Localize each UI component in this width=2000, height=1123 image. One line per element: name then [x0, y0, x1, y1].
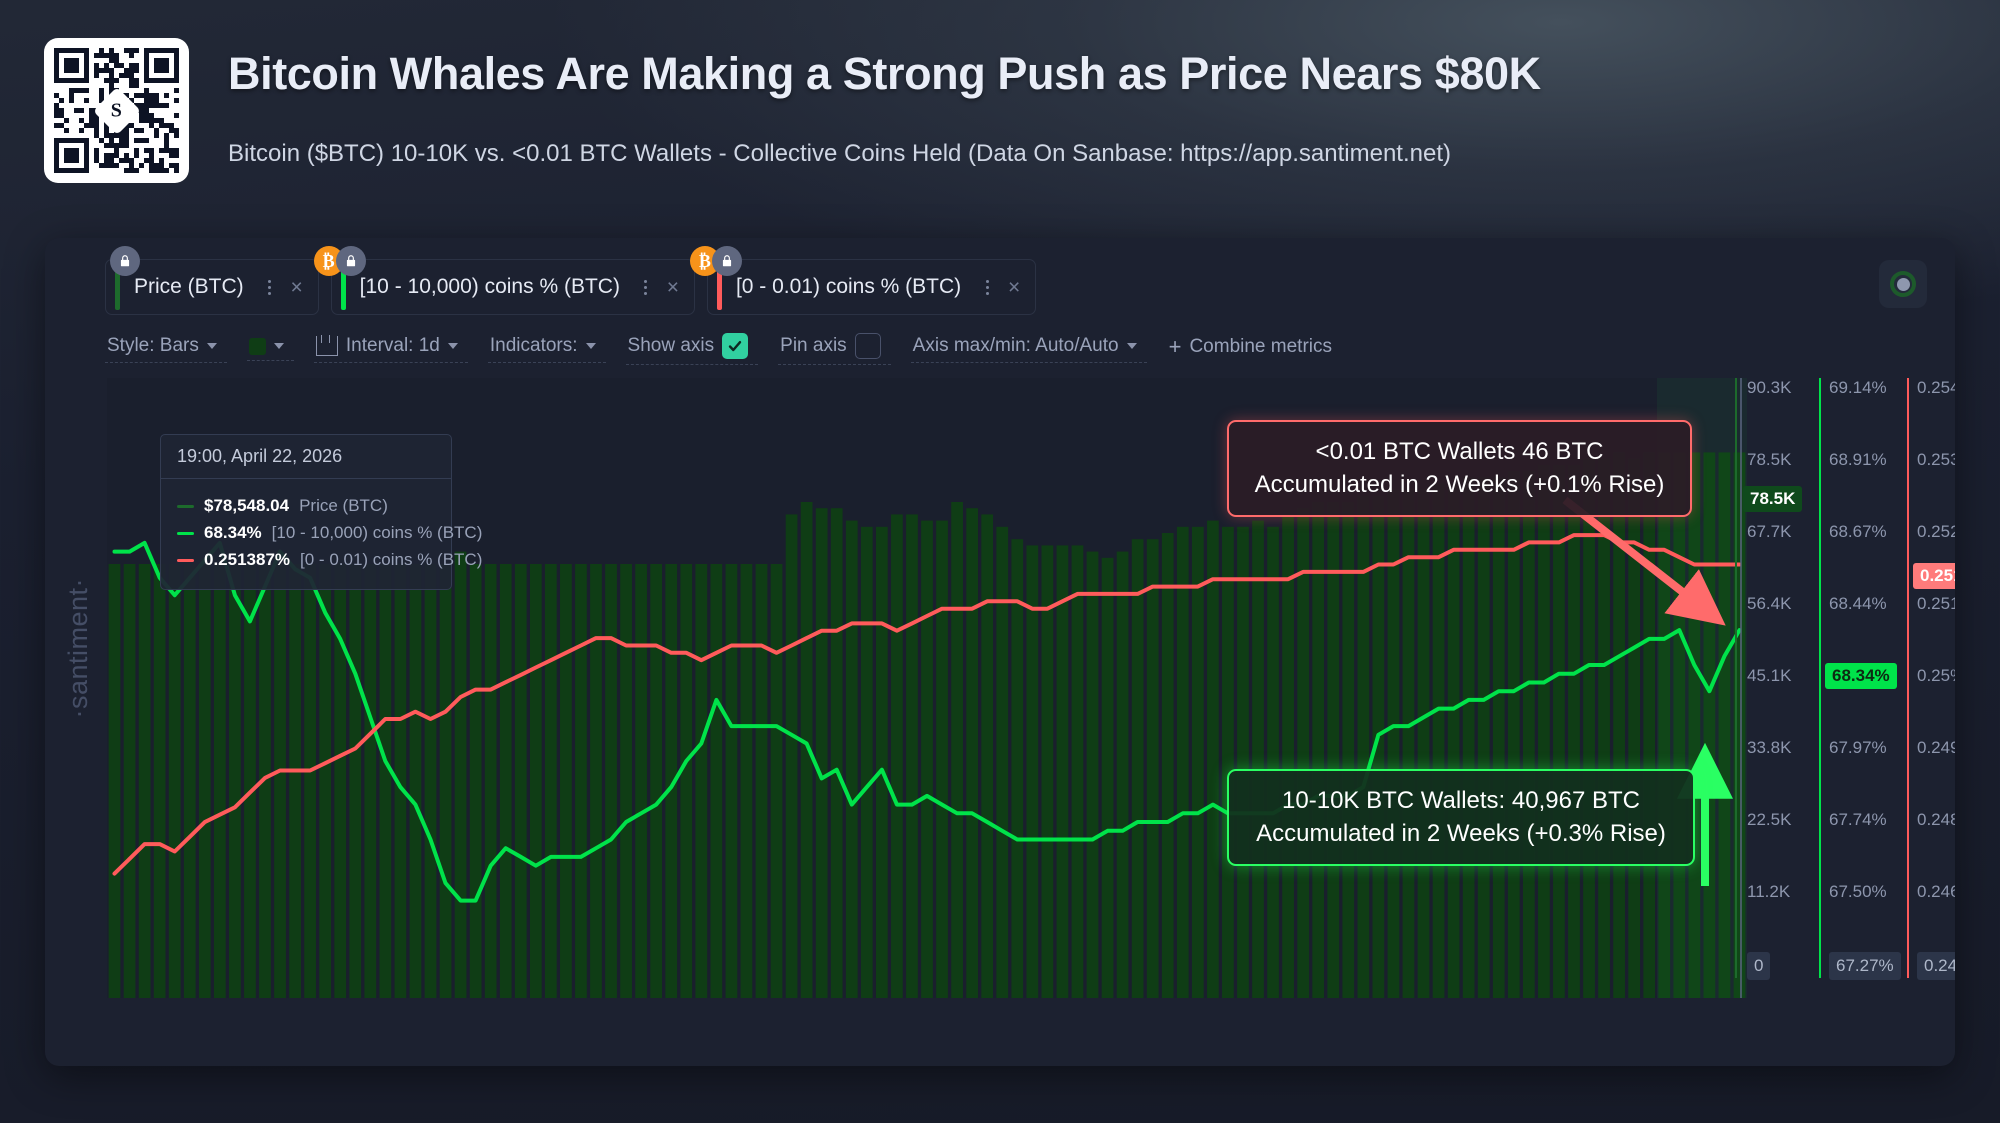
qr-code-icon: S: [44, 38, 189, 183]
y-axis-tick: 67.27%: [1829, 952, 1901, 980]
y-axis-tick: 68.91%: [1829, 450, 1887, 470]
y-axis-tick: 67.74%: [1829, 810, 1887, 830]
y-axis-3: 0.254%0.253%0.252%0.251%0.25%0.249%0.248…: [1917, 378, 1955, 978]
page-title: Bitcoin Whales Are Making a Strong Push …: [228, 48, 1541, 100]
chevron-down-icon: [448, 343, 458, 349]
metric-chip-1[interactable]: Price (BTC)×: [105, 259, 319, 315]
pin-axis-toggle[interactable]: Pin axis: [778, 331, 891, 365]
combine-metrics-label: Combine metrics: [1189, 336, 1332, 358]
qr-center-glyph: S: [111, 99, 122, 122]
y-axis-tick: 78.5K: [1747, 450, 1791, 470]
style-label: Style: Bars: [107, 335, 199, 357]
chart-y-axes: 90.3K78.5K67.7K56.4K45.1K33.8K22.5K11.2K…: [1747, 378, 1955, 1018]
page-subtitle: Bitcoin ($BTC) 10-10K vs. <0.01 BTC Wall…: [228, 140, 1451, 168]
metric-chip-label: [0 - 0.01) coins % (BTC): [736, 275, 961, 299]
tooltip-value: 68.34%: [204, 523, 262, 543]
y-axis-tick: 56.4K: [1747, 594, 1791, 614]
combine-metrics-button[interactable]: + Combine metrics: [1167, 334, 1342, 363]
y-axis-tick: 69.14%: [1829, 378, 1887, 398]
close-icon[interactable]: ×: [656, 277, 690, 298]
y-axis-current-value: 0.251%: [1913, 563, 1955, 589]
checkbox-unchecked-icon[interactable]: [855, 333, 881, 359]
chevron-down-icon: [1127, 343, 1137, 349]
y-axis-tick: 11.2K: [1747, 882, 1790, 902]
interval-label: Interval: 1d: [346, 335, 440, 357]
show-axis-label: Show axis: [628, 335, 715, 357]
y-axis-tick: 67.50%: [1829, 882, 1887, 902]
whale-wallets-callout: 10-10K BTC Wallets: 40,967 BTC Accumulat…: [1227, 769, 1695, 866]
y-axis-tick: 0.252%: [1917, 522, 1955, 542]
y-axis-tick: 0.245%: [1917, 952, 1955, 980]
live-ring-icon: [1890, 271, 1916, 297]
live-status-indicator[interactable]: [1879, 260, 1927, 308]
tooltip-rows: $78,548.04Price (BTC)68.34%[10 - 10,000)…: [161, 479, 451, 589]
y-axis-2: 69.14%68.91%68.67%68.44%68.20%67.97%67.7…: [1829, 378, 1919, 978]
y-axis-tick: 0.248%: [1917, 810, 1955, 830]
small-wallets-callout: <0.01 BTC Wallets 46 BTC Accumulated in …: [1227, 420, 1692, 517]
checkbox-checked-icon[interactable]: [722, 333, 748, 359]
whale-wallets-callout-line2: Accumulated in 2 Weeks (+0.3% Rise): [1251, 818, 1671, 851]
chevron-down-icon: [586, 343, 596, 349]
y-axis-tick: 45.1K: [1747, 666, 1791, 686]
small-wallets-callout-line2: Accumulated in 2 Weeks (+0.1% Rise): [1251, 469, 1668, 502]
y-axis-current-value: 78.5K: [1743, 486, 1802, 512]
tooltip-row-2: 68.34%[10 - 10,000) coins % (BTC): [177, 523, 435, 543]
chevron-down-icon: [207, 343, 217, 349]
tooltip-row-3: 0.251387%[0 - 0.01) coins % (BTC): [177, 550, 435, 570]
tooltip-row-1: $78,548.04Price (BTC): [177, 496, 435, 516]
y-axis-1: 90.3K78.5K67.7K56.4K45.1K33.8K22.5K11.2K…: [1747, 378, 1837, 978]
color-swatch-icon: [249, 338, 266, 355]
metric-chip-label: Price (BTC): [134, 275, 244, 299]
color-dropdown[interactable]: [247, 336, 294, 361]
series-color-dash: [177, 559, 194, 562]
chevron-down-icon: [274, 343, 284, 349]
kebab-menu-icon[interactable]: [636, 280, 656, 295]
page-header: S Bitcoin Whales Are Making a Strong Pus…: [0, 0, 2000, 222]
y-axis-tick: 33.8K: [1747, 738, 1791, 758]
screenshot-root: S Bitcoin Whales Are Making a Strong Pus…: [0, 0, 2000, 1123]
axis-minmax-label: Axis max/min: Auto/Auto: [913, 335, 1119, 357]
chart-card: Price (BTC)×₿[10 - 10,000) coins % (BTC)…: [45, 238, 1955, 1066]
tooltip-value: 0.251387%: [204, 550, 290, 570]
y-axis-tick: 0.249%: [1917, 738, 1955, 758]
calendar-icon: [316, 336, 338, 356]
close-icon[interactable]: ×: [997, 277, 1031, 298]
indicators-dropdown[interactable]: Indicators:: [488, 333, 606, 363]
metric-chip-3[interactable]: ₿[0 - 0.01) coins % (BTC)×: [707, 259, 1036, 315]
lock-icon: [712, 246, 742, 276]
y-axis-tick: 67.97%: [1829, 738, 1887, 758]
plus-icon: +: [1169, 336, 1182, 358]
chart-settings-row: Style: Bars Interval: 1d Indicators: Sho…: [105, 330, 1362, 366]
series-color-dash: [177, 532, 194, 535]
axis-minmax-dropdown[interactable]: Axis max/min: Auto/Auto: [911, 333, 1147, 363]
metric-chip-label: [10 - 10,000) coins % (BTC): [360, 275, 620, 299]
show-axis-toggle[interactable]: Show axis: [626, 331, 759, 365]
lock-icon: [110, 246, 140, 276]
y-axis-line: [1735, 378, 1737, 978]
y-axis-tick: 68.44%: [1829, 594, 1887, 614]
y-axis-tick: 0.254%: [1917, 378, 1955, 398]
y-axis-tick: 22.5K: [1747, 810, 1791, 830]
chart-tooltip: 19:00, April 22, 2026 $78,548.04Price (B…: [160, 434, 452, 590]
y-axis-tick: 67.7K: [1747, 522, 1791, 542]
whale-wallets-callout-line1: 10-10K BTC Wallets: 40,967 BTC: [1251, 785, 1671, 818]
tooltip-series-name: Price (BTC): [299, 496, 388, 516]
close-icon[interactable]: ×: [280, 277, 314, 298]
indicators-label: Indicators:: [490, 335, 578, 357]
small-wallets-callout-line1: <0.01 BTC Wallets 46 BTC: [1251, 436, 1668, 469]
series-color-dash: [177, 505, 194, 508]
tooltip-timestamp: 19:00, April 22, 2026: [161, 435, 451, 479]
y-axis-tick: 0: [1747, 952, 1770, 980]
tooltip-value: $78,548.04: [204, 496, 289, 516]
kebab-menu-icon[interactable]: [260, 280, 280, 295]
y-axis-tick: 0.251%: [1917, 594, 1955, 614]
y-axis-tick: 0.25%: [1917, 666, 1955, 686]
y-axis-tick: 0.246%: [1917, 882, 1955, 902]
y-axis-current-value: 68.34%: [1825, 663, 1897, 689]
y-axis-line: [1907, 378, 1909, 978]
interval-dropdown[interactable]: Interval: 1d: [314, 333, 468, 363]
y-axis-tick: 68.67%: [1829, 522, 1887, 542]
metric-chip-2[interactable]: ₿[10 - 10,000) coins % (BTC)×: [331, 259, 695, 315]
style-dropdown[interactable]: Style: Bars: [105, 333, 227, 363]
lock-icon: [336, 246, 366, 276]
tooltip-series-name: [0 - 0.01) coins % (BTC): [300, 550, 482, 570]
pin-axis-label: Pin axis: [780, 335, 847, 357]
kebab-menu-icon[interactable]: [977, 280, 997, 295]
metric-chip-row: Price (BTC)×₿[10 - 10,000) coins % (BTC)…: [105, 256, 1048, 318]
y-axis-tick: 90.3K: [1747, 378, 1791, 398]
y-axis-tick: 0.253%: [1917, 450, 1955, 470]
tooltip-series-name: [10 - 10,000) coins % (BTC): [272, 523, 483, 543]
santiment-watermark: ·santiment·: [63, 578, 94, 719]
y-axis-line: [1819, 378, 1821, 978]
